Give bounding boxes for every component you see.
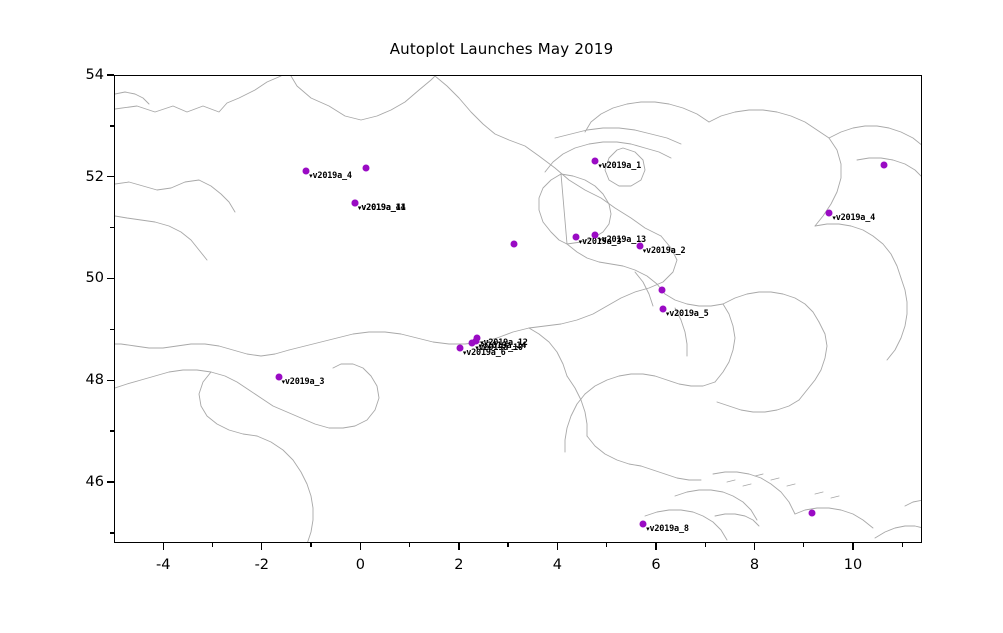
y-axis-minor-tick — [110, 329, 114, 330]
scatter-point-label: ▾v2019a_5 — [666, 309, 709, 319]
x-axis-major-tick — [458, 543, 459, 550]
x-axis-major-tick — [852, 543, 853, 550]
x-axis-minor-tick — [902, 543, 903, 547]
y-axis-major-tick — [107, 278, 114, 279]
map-axes: ▾v2019a_4▾v2019a_44▾v2019a_11▾v2019a_1▾v… — [114, 75, 922, 543]
y-axis-tick-label: 46 — [66, 474, 104, 490]
y-axis-tick-label: 50 — [66, 270, 104, 286]
x-axis-tick-label: 2 — [454, 557, 463, 573]
y-axis-major-tick — [107, 380, 114, 381]
x-axis-minor-tick — [310, 543, 311, 547]
y-axis-minor-tick — [110, 125, 114, 126]
x-axis-major-tick — [655, 543, 656, 550]
x-axis-major-tick — [261, 543, 262, 550]
x-axis-minor-tick — [507, 543, 508, 547]
x-axis-tick-label: 8 — [750, 557, 759, 573]
label-text: v2019a_6 — [466, 348, 505, 358]
x-axis-major-tick — [163, 543, 164, 550]
x-axis-minor-tick — [705, 543, 706, 547]
label-text: v2019a_11 — [361, 203, 405, 213]
y-axis-major-tick — [107, 176, 114, 177]
scatter-point-label: ▾v2019a_4 — [832, 213, 875, 223]
scatter-point-label: ▾v2019a_2 — [643, 246, 686, 256]
figure-canvas: Autoplot Launches May 2019 — [0, 0, 1003, 633]
label-text: v2019a_8 — [649, 524, 688, 534]
scatter-marker-layer: ▾v2019a_4▾v2019a_44▾v2019a_11▾v2019a_1▾v… — [115, 76, 921, 542]
x-axis-major-tick — [754, 543, 755, 550]
x-axis-tick-label: 6 — [651, 557, 660, 573]
y-axis-tick-label: 54 — [66, 67, 104, 83]
label-text: v2019a_5 — [669, 309, 708, 319]
label-text: v2019a_4 — [836, 213, 875, 223]
y-axis-minor-tick — [110, 532, 114, 533]
label-text: v2019a_4 — [312, 171, 351, 181]
x-axis-minor-tick — [803, 543, 804, 547]
scatter-marker[interactable] — [363, 164, 370, 171]
scatter-point-label: ▾v2019a_4 — [309, 171, 352, 181]
scatter-marker[interactable] — [809, 510, 816, 517]
scatter-point-label: ▾v2019a_11 — [358, 203, 406, 213]
x-axis-major-tick — [360, 543, 361, 550]
page-title: Autoplot Launches May 2019 — [0, 40, 1003, 58]
scatter-point-label: ▾v2019a_8 — [646, 524, 689, 534]
x-axis-tick-label: 10 — [844, 557, 862, 573]
x-axis-major-tick — [557, 543, 558, 550]
scatter-point-label: ▾v2019a_3 — [282, 377, 325, 387]
scatter-point-label: ▾v2019a_1 — [598, 161, 641, 171]
x-axis-tick-label: -4 — [156, 557, 170, 573]
x-axis-tick-label: -2 — [255, 557, 269, 573]
y-axis-minor-tick — [110, 430, 114, 431]
scatter-marker[interactable] — [658, 286, 665, 293]
y-axis-tick-label: 48 — [66, 372, 104, 388]
scatter-marker[interactable] — [511, 240, 518, 247]
x-axis-minor-tick — [606, 543, 607, 547]
y-axis-minor-tick — [110, 227, 114, 228]
scatter-marker[interactable] — [880, 162, 887, 169]
label-text: v2019a_2 — [646, 246, 685, 256]
y-axis-major-tick — [107, 481, 114, 482]
label-text: v2019a_1 — [602, 161, 641, 171]
y-axis-major-tick — [107, 74, 114, 75]
x-axis-tick-label: 0 — [356, 557, 365, 573]
scatter-point-label: ▾v2019a_6 — [463, 348, 506, 358]
x-axis-minor-tick — [212, 543, 213, 547]
x-axis-tick-label: 4 — [553, 557, 562, 573]
y-axis-tick-label: 52 — [66, 169, 104, 185]
label-text: v2019a_3 — [285, 377, 324, 387]
x-axis-minor-tick — [409, 543, 410, 547]
